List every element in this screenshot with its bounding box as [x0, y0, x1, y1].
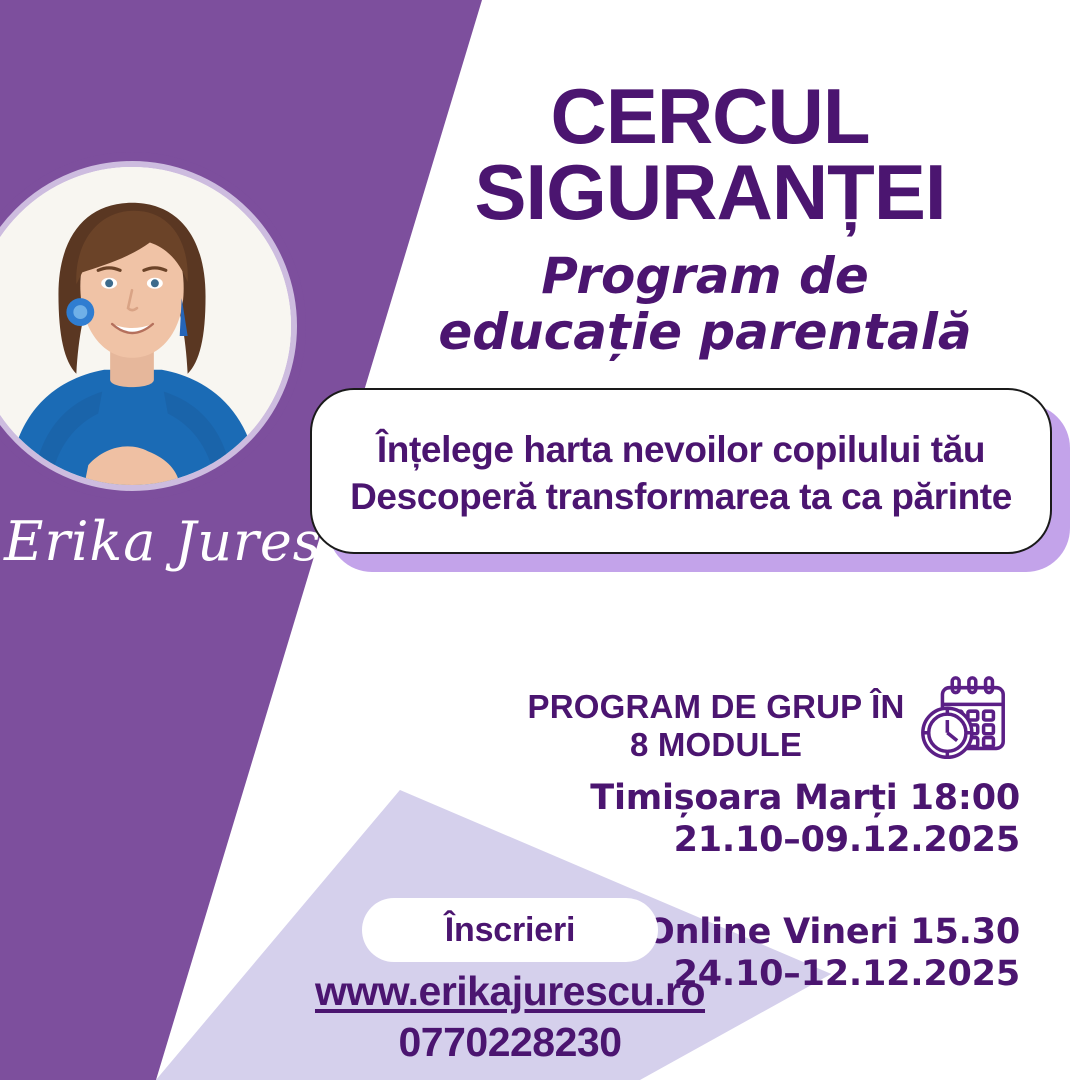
page-subtitle: Program de educație parentală: [360, 248, 1050, 360]
register-button[interactable]: Înscrieri: [362, 898, 658, 962]
phone-number[interactable]: 0770228230: [240, 1019, 780, 1066]
callout-line-2: Descoperă transformarea ta ca părinte: [350, 473, 1012, 520]
title-line-2: SIGURANȚEI: [380, 154, 1040, 230]
poster-canvas: Erika Jurescu CERCUL SIGURANȚEI Program …: [0, 0, 1080, 1080]
session-1-dates: 21.10–09.12.2025: [520, 819, 1020, 861]
subtitle-line-2: educație parentală: [360, 304, 1050, 360]
calendar-clock-icon: [915, 672, 1013, 770]
subtitle-line-1: Program de: [360, 248, 1050, 304]
callout-box: Înțelege harta nevoilor copilului tău De…: [310, 388, 1052, 554]
contact-block: www.erikajurescu.ro 0770228230: [240, 968, 780, 1066]
program-title-line-1: PROGRAM DE GRUP ÎN: [520, 688, 912, 726]
program-title-line-2: 8 MODULE: [520, 726, 912, 764]
page-title: CERCUL SIGURANȚEI: [380, 78, 1040, 231]
register-button-label: Înscrieri: [445, 911, 576, 950]
title-line-1: CERCUL: [380, 78, 1040, 154]
presenter-name-signature: Erika Jurescu: [4, 514, 324, 571]
website-link[interactable]: www.erikajurescu.ro: [240, 968, 780, 1015]
callout-line-1: Înțelege harta nevoilor copilului tău: [377, 426, 985, 473]
session-1-title: Timișoara Marți 18:00: [520, 777, 1020, 819]
